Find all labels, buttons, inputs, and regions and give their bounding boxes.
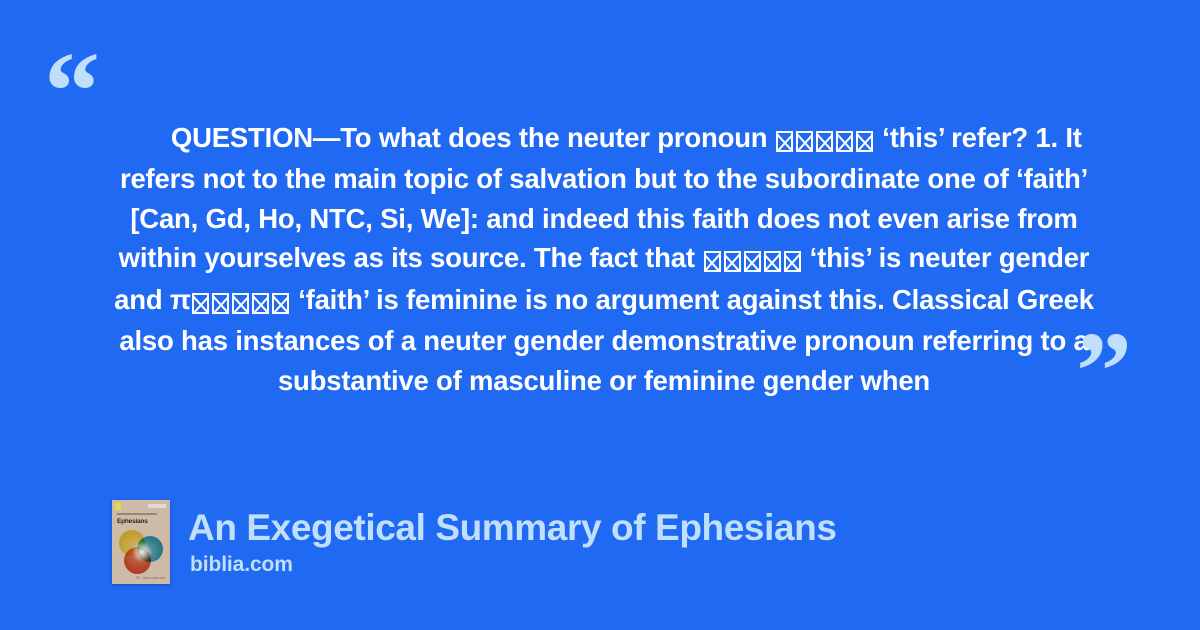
- greek-tofu-touto-2: [702, 240, 802, 280]
- cover-glow: [132, 542, 152, 562]
- cover-tab-marker: [115, 503, 121, 510]
- cover-series-line: [117, 513, 157, 515]
- cover-artwork: [118, 530, 164, 574]
- cover-top-bar: [148, 504, 166, 508]
- footer-text: An Exegetical Summary of Ephesians bibli…: [188, 506, 837, 578]
- opening-quote-icon: “: [44, 36, 100, 148]
- book-cover-thumbnail: Ephesians SIL International: [112, 500, 170, 584]
- book-title: An Exegetical Summary of Ephesians: [188, 506, 837, 550]
- quote-text: QUESTION—To what does the neuter pronoun…: [104, 78, 1104, 440]
- greek-tofu-touto-1: [775, 120, 875, 160]
- footer: Ephesians SIL International An Exegetica…: [112, 500, 837, 584]
- greek-tofu-pistis: [191, 282, 291, 322]
- quote-card: “ QUESTION—To what does the neuter prono…: [0, 0, 1200, 630]
- site-name: biblia.com: [190, 552, 837, 578]
- cover-title: Ephesians: [117, 518, 148, 525]
- cover-publisher: SIL International: [136, 576, 165, 580]
- quote-area: “ QUESTION—To what does the neuter prono…: [0, 0, 1200, 450]
- quote-segment-1: QUESTION—To what does the neuter pronoun: [171, 122, 775, 153]
- closing-quote-icon: ”: [1076, 316, 1132, 428]
